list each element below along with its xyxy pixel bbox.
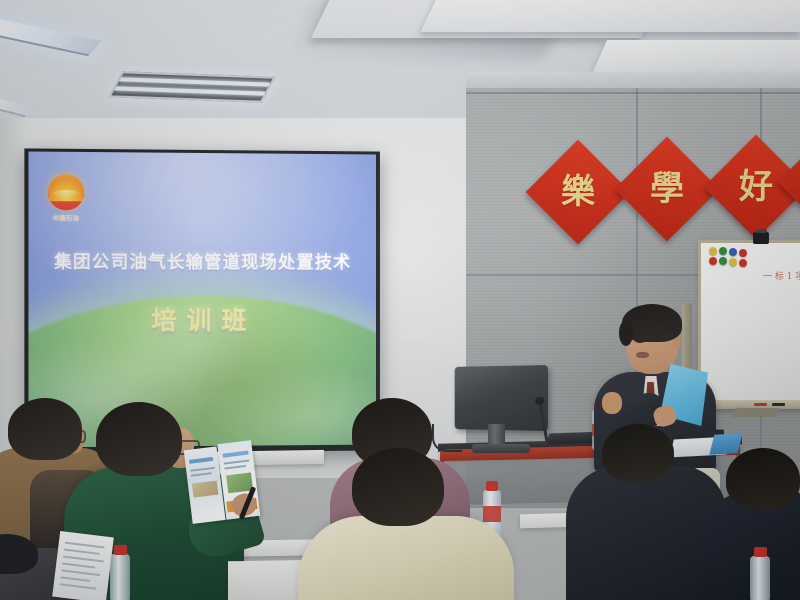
magnet (709, 247, 717, 255)
monitor-cable (432, 424, 462, 452)
cnpc-logo: 中国石油 (43, 174, 90, 225)
blue-folder (709, 433, 742, 454)
placard-character: 學 (650, 172, 684, 206)
printed-pages (52, 531, 114, 600)
ceiling-coffer (593, 40, 800, 72)
whiteboard-writing: 一 标 1 项 (763, 271, 800, 303)
monitor-base (472, 444, 530, 453)
magnet (739, 249, 747, 257)
training-room-photo: 中国石油 集团公司油气长输管道现场处置技术 培训班 樂 學 好 學 (0, 0, 800, 600)
attendee-hair (602, 424, 674, 482)
magnet (709, 257, 717, 265)
magnet (729, 258, 737, 266)
placard-character: 樂 (561, 175, 595, 209)
attendee-hair (726, 448, 800, 510)
whiteboard-clip (753, 232, 769, 244)
slide-title: 集团公司油气长输管道现场处置技术 (28, 248, 376, 274)
lcd-monitor (452, 366, 548, 458)
monitor-panel (455, 365, 548, 431)
attendee-hair (96, 402, 182, 476)
ceiling-coffer (420, 0, 800, 32)
marker-black (772, 403, 785, 406)
water-bottle (110, 554, 130, 600)
cnpc-sun-mark-icon (48, 174, 85, 211)
fluorescent-strip-light-icon (0, 95, 34, 117)
magnet (729, 248, 737, 256)
presenter-hand (602, 392, 622, 414)
attendee-cream-jacket (298, 516, 514, 600)
wall-seam (466, 92, 800, 94)
marker-red (754, 403, 767, 406)
grille-ceiling-light-icon (108, 71, 275, 102)
whiteboard-magnets (709, 247, 755, 277)
fluorescent-strip-light-icon (0, 18, 102, 56)
projection-screen: 中国石油 集团公司油气长输管道现场处置技术 培训班 (24, 148, 380, 453)
presenter-hair (622, 304, 682, 342)
presenter-mouth (636, 352, 649, 358)
whiteboard-foot (733, 408, 780, 417)
cnpc-logo-caption: 中国石油 (43, 213, 90, 222)
magnet (739, 259, 747, 267)
magnet (719, 257, 727, 265)
slide-subtitle: 培训班 (28, 301, 376, 337)
attendee-hair (8, 398, 82, 460)
attendee-hair (352, 448, 444, 526)
water-bottle (750, 556, 770, 600)
magnet (719, 247, 727, 255)
projected-slide: 中国石油 集团公司油气长输管道现场处置技术 培训班 (28, 151, 376, 447)
placard-character: 好 (739, 170, 773, 204)
